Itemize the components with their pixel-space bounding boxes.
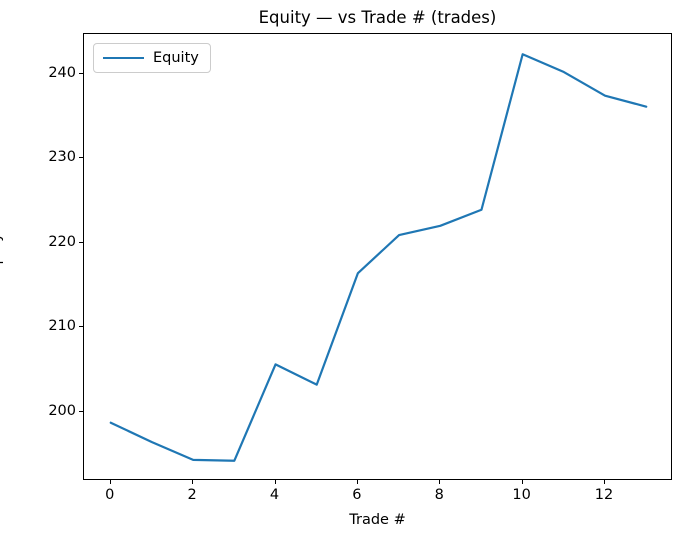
- y-tick-label: 230: [48, 149, 76, 165]
- x-tick-mark: [439, 480, 440, 484]
- x-tick-mark: [192, 480, 193, 484]
- x-tick-mark: [357, 480, 358, 484]
- legend-label-equity: Equity: [153, 50, 199, 66]
- y-tick-label: 240: [48, 65, 76, 81]
- chart-figure: Equity — vs Trade # (trades) 024681012 2…: [0, 0, 687, 546]
- y-tick-mark: [79, 73, 83, 74]
- y-tick-label: 210: [48, 318, 76, 334]
- y-tick-mark: [79, 157, 83, 158]
- x-tick-mark: [110, 480, 111, 484]
- y-tick-mark: [79, 242, 83, 243]
- x-tick-mark: [522, 480, 523, 484]
- legend-line-swatch-equity: [103, 57, 144, 59]
- x-axis-label: Trade #: [83, 512, 672, 528]
- plot-axes-area: [83, 33, 672, 480]
- x-tick-mark: [604, 480, 605, 484]
- y-tick-mark: [79, 326, 83, 327]
- x-tick-label: 6: [352, 487, 361, 503]
- y-tick-label: 220: [48, 234, 76, 250]
- x-tick-label: 2: [188, 487, 197, 503]
- x-tick-label: 10: [512, 487, 530, 503]
- x-tick-label: 12: [595, 487, 613, 503]
- line-plot-svg: [84, 34, 673, 481]
- x-tick-label: 0: [105, 487, 114, 503]
- y-tick-label: 200: [48, 403, 76, 419]
- chart-legend: Equity: [93, 43, 211, 73]
- y-tick-mark: [79, 411, 83, 412]
- x-tick-mark: [275, 480, 276, 484]
- x-tick-label: 4: [270, 487, 279, 503]
- x-tick-label: 8: [435, 487, 444, 503]
- chart-title: Equity — vs Trade # (trades): [83, 8, 672, 27]
- y-axis-label: Equity: [0, 233, 4, 279]
- data-line-equity: [111, 54, 646, 460]
